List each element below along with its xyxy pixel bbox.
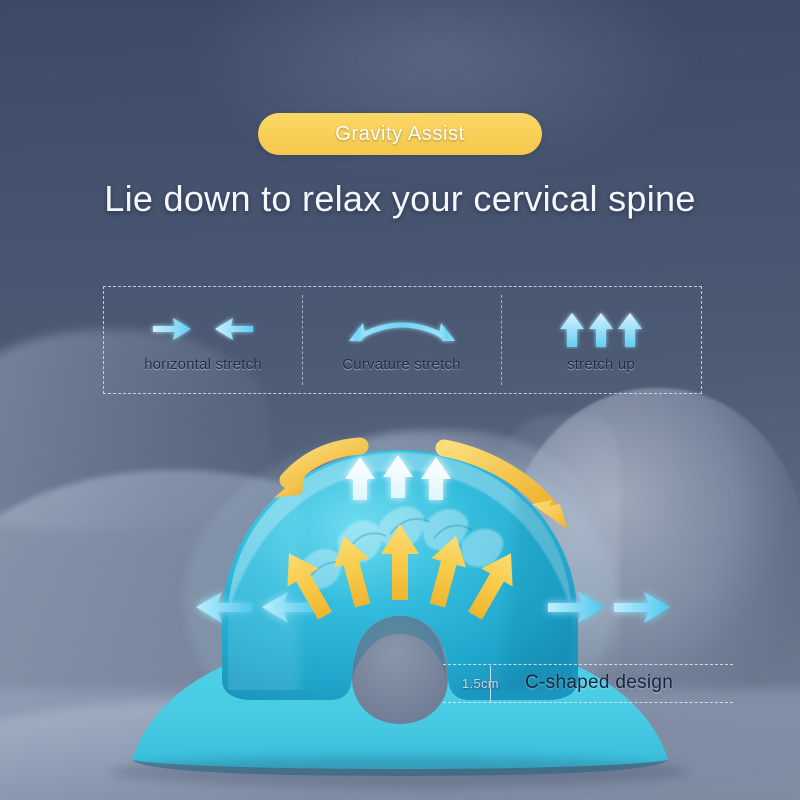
product-infographic: Gravity Assist Lie down to relax your ce… <box>0 0 800 800</box>
dimension-line-bottom <box>443 702 733 703</box>
dimension-line-top <box>443 664 733 665</box>
c-shape-label: C-shaped design <box>525 672 673 694</box>
thickness-label: 1.5cm <box>462 676 499 691</box>
product-illustration <box>0 0 800 800</box>
white-up-arrows <box>345 455 451 500</box>
